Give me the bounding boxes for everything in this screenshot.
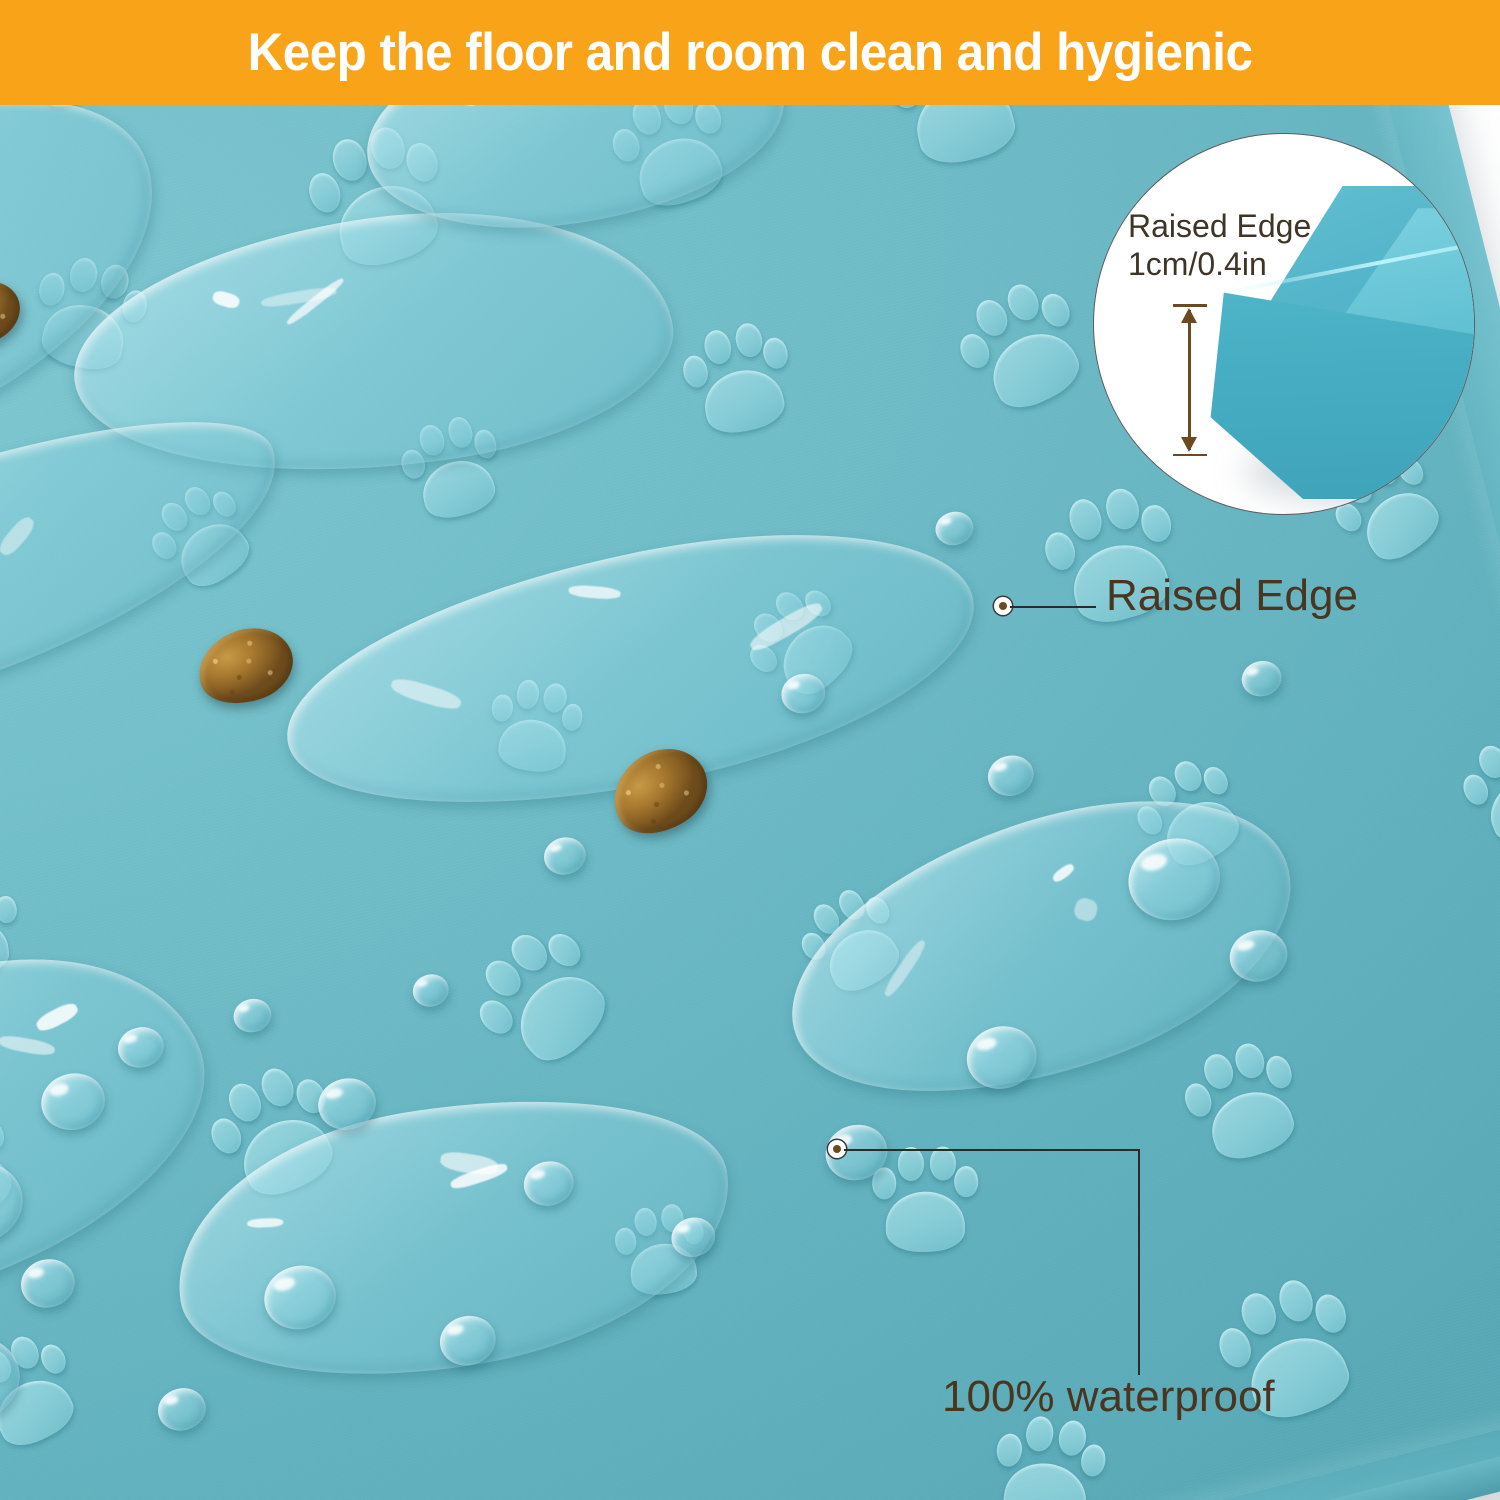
callout-raised-edge-label: Raised Edge [1106,571,1358,621]
callout-leader-line-horizontal [844,1149,1140,1151]
dimension-cap-bottom [1173,454,1207,457]
inset-label-line2: 1cm/0.4in [1128,246,1348,284]
water-highlight [388,675,462,713]
raised-edge-inset-circle: Raised Edge 1cm/0.4in [1093,133,1475,515]
callout-waterproof-label: 100% waterproof [942,1372,1275,1422]
arrowhead-up-icon [1181,308,1197,323]
water-highlight [211,289,241,310]
dimension-shaft [1188,310,1191,450]
dimension-cap-top [1173,304,1207,307]
water-highlight [439,1149,499,1176]
arrowhead-down-icon [1181,437,1197,452]
water-highlight [260,285,337,309]
inset-label-line1: Raised Edge [1128,208,1348,246]
water-highlight [746,598,825,655]
header-banner: Keep the floor and room clean and hygien… [0,0,1500,105]
water-highlight [1051,862,1076,884]
water-highlight [0,1034,56,1058]
banner-headline: Keep the floor and room clean and hygien… [53,0,1448,105]
product-marketing-image: Raised Edge 1cm/0.4in Raised Edge 100% w… [0,0,1500,1500]
dimension-arrow [1173,304,1207,456]
callout-leader-line [1010,606,1096,608]
water-highlight [0,514,38,559]
water-highlight [444,105,481,109]
inset-label: Raised Edge 1cm/0.4in [1128,208,1348,284]
water-highlight [881,938,928,999]
water-highlight [33,1000,79,1034]
callout-leader-line-vertical [1138,1149,1140,1375]
water-highlight [247,1217,283,1228]
water-highlight [568,584,621,601]
water-highlight [1072,897,1099,924]
